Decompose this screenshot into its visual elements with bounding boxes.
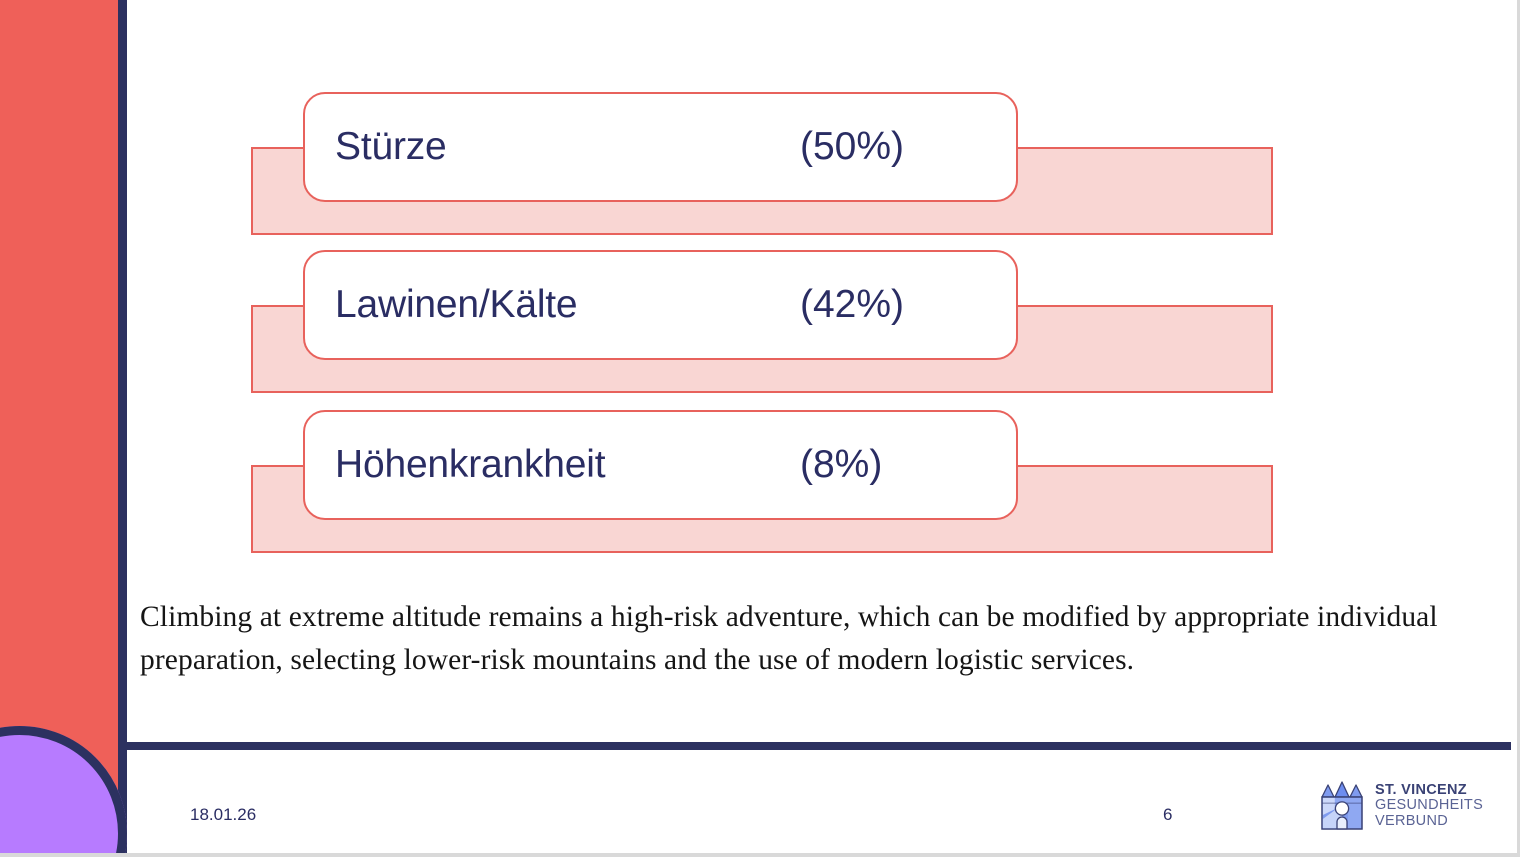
organization-logo: ST. VINCENZ GESUNDHEITS VERBUND [1318, 779, 1478, 833]
cathedral-icon [1318, 781, 1366, 831]
risk-card[interactable]: Lawinen/Kälte (42%) [303, 250, 1018, 360]
presentation-slide: Stürze (50%) Lawinen/Kälte (42%) Höhenkr… [0, 0, 1520, 857]
logo-line-2: GESUNDHEITS [1375, 798, 1483, 814]
logo-line-1: ST. VINCENZ [1375, 783, 1483, 799]
footer-date: 18.01.26 [190, 805, 256, 825]
footer-page-number: 6 [1163, 805, 1172, 825]
risk-percent: (50%) [800, 125, 904, 169]
body-paragraph: Climbing at extreme altitude remains a h… [140, 596, 1502, 682]
risk-card[interactable]: Stürze (50%) [303, 92, 1018, 202]
logo-wordmark: ST. VINCENZ GESUNDHEITS VERBUND [1375, 783, 1483, 830]
risk-label: Lawinen/Kälte [335, 283, 577, 327]
risk-percent: (8%) [800, 443, 882, 487]
left-navy-accent-bar [118, 0, 127, 857]
risk-label: Höhenkrankheit [335, 443, 605, 487]
risk-percent: (42%) [800, 283, 904, 327]
risk-card[interactable]: Höhenkrankheit (8%) [303, 410, 1018, 520]
footer-separator-rule [118, 742, 1511, 750]
risk-label: Stürze [335, 125, 447, 169]
logo-line-3: VERBUND [1375, 814, 1483, 830]
